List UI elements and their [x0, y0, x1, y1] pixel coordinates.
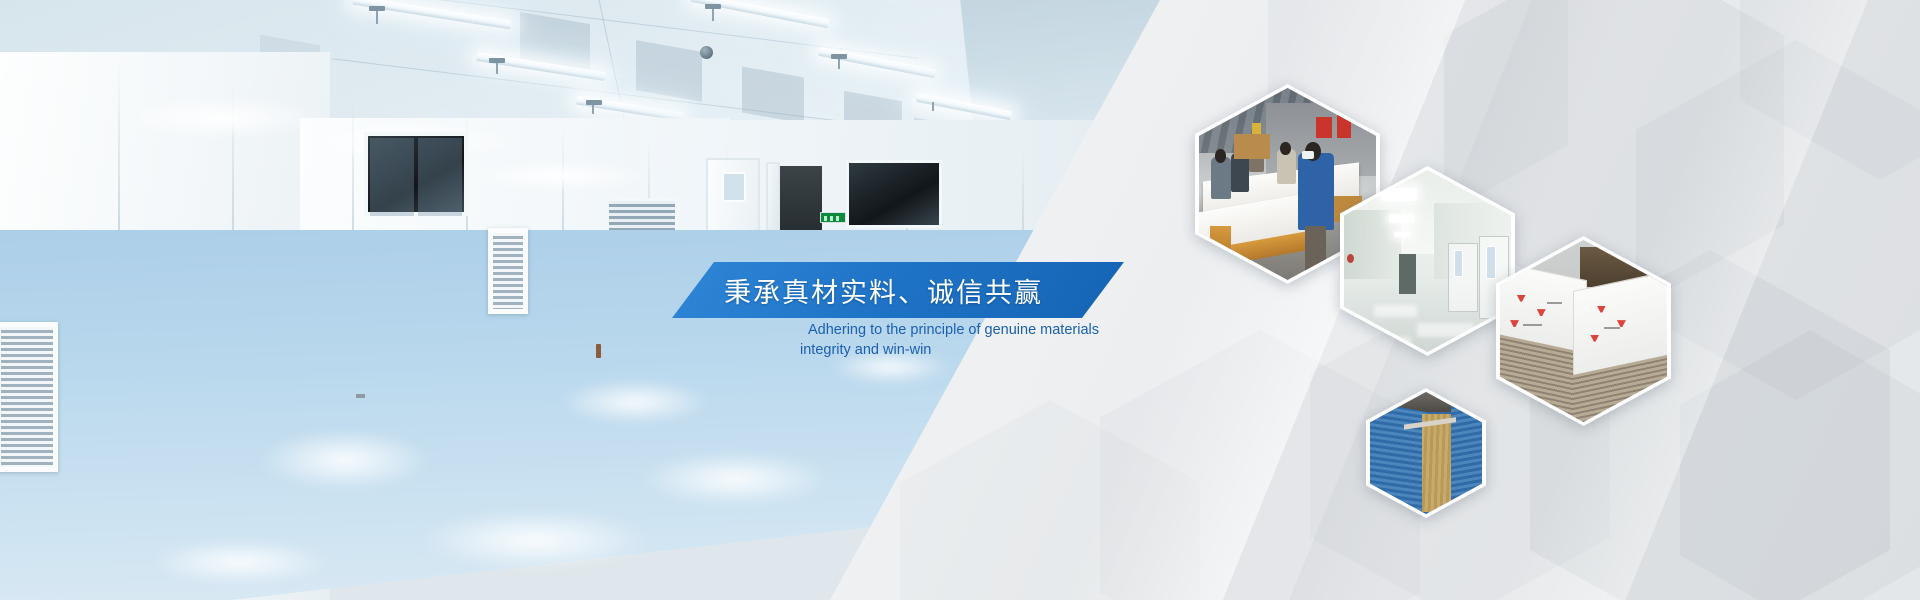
light-bracket [489, 58, 505, 63]
floor-reflection [150, 540, 330, 584]
photo-stacked-panels [1500, 240, 1667, 422]
hero-banner: 秉承真材实料、诚信共赢 Adhering to the principle of… [0, 0, 1920, 600]
wall-poster [1337, 115, 1351, 138]
exit-sign [820, 212, 846, 223]
floor-reflection [1417, 323, 1474, 338]
worker [1211, 157, 1230, 199]
floor-reflection [1374, 305, 1417, 318]
subtitle-en: Adhering to the principle of genuine mat… [800, 320, 1130, 360]
floor-reflection [640, 452, 830, 506]
panel-core-edge [1210, 226, 1231, 257]
wall-poster [1316, 117, 1332, 138]
light-arm [712, 8, 714, 21]
interior-window [364, 132, 468, 216]
warehouse-ceiling [1370, 392, 1482, 412]
fire-alarm [1347, 254, 1354, 263]
floor-reflection [560, 380, 710, 424]
grille-louvres [493, 233, 523, 309]
window-pane [370, 138, 414, 216]
worker-head [1280, 142, 1291, 155]
hexagon-photo-cleanroom-corridor[interactable] [1340, 166, 1515, 356]
door-vision-panel [1486, 246, 1496, 279]
face-mask [1302, 151, 1314, 159]
photo-cleanroom-corridor [1344, 170, 1511, 352]
worker [1298, 153, 1333, 230]
photo-rockwool-core-panels [1370, 392, 1482, 514]
subtitle-line-2: integrity and win-win [800, 340, 1130, 360]
light-arm [592, 104, 594, 114]
ceiling-camera [700, 46, 713, 59]
corridor-light [1394, 232, 1411, 237]
light-arm [496, 62, 498, 74]
floor-object [356, 394, 365, 398]
hexagon-image-clip [1344, 170, 1511, 352]
label-text [1523, 324, 1541, 326]
wall-highlight [120, 96, 320, 140]
hexagon-frame [1366, 388, 1486, 518]
worker-head [1215, 149, 1226, 162]
subtitle-line-1: Adhering to the principle of genuine mat… [800, 320, 1130, 340]
window-pane [418, 138, 462, 216]
corridor-light [1389, 214, 1414, 223]
floor-reflection [1361, 337, 1411, 350]
light-bracket [369, 6, 385, 11]
wall-highlight [470, 160, 650, 192]
light-bracket [586, 100, 602, 105]
label-text [1547, 302, 1562, 304]
hexagon-photo-rockwool-core-panels[interactable] [1366, 388, 1486, 518]
door-vision-panel [722, 172, 746, 202]
floor-object [596, 344, 601, 358]
light-bracket [831, 54, 847, 59]
wood-crate [1234, 134, 1269, 159]
blue-panel-face [1370, 401, 1428, 514]
headline-zh: 秉承真材实料、诚信共赢 [724, 271, 1043, 310]
hexagon-frame [1496, 236, 1671, 426]
grille-louvres [1, 327, 53, 467]
light-arm [376, 10, 378, 24]
corridor-vanishing-door [1399, 254, 1416, 294]
light-arm [838, 58, 840, 69]
headline-ribbon: 秉承真材实料、诚信共赢 [672, 262, 1124, 318]
light-arm [932, 102, 934, 111]
wall-louvre-grille [0, 322, 58, 472]
hexagon-image-clip [1500, 240, 1667, 422]
wall-louvre-grille [488, 228, 528, 314]
door-vision-panel [1454, 250, 1462, 277]
worker-legs [1305, 226, 1326, 272]
corridor-light [1381, 188, 1418, 201]
hexagon-image-clip [1370, 392, 1482, 514]
hexagon-photo-stacked-panels[interactable] [1496, 236, 1671, 426]
hexagon-frame [1340, 166, 1515, 356]
light-bracket [705, 4, 721, 9]
floor-reflection [260, 430, 430, 490]
label-text [1604, 327, 1621, 329]
interior-window [846, 160, 942, 228]
floor-reflection [420, 510, 650, 570]
